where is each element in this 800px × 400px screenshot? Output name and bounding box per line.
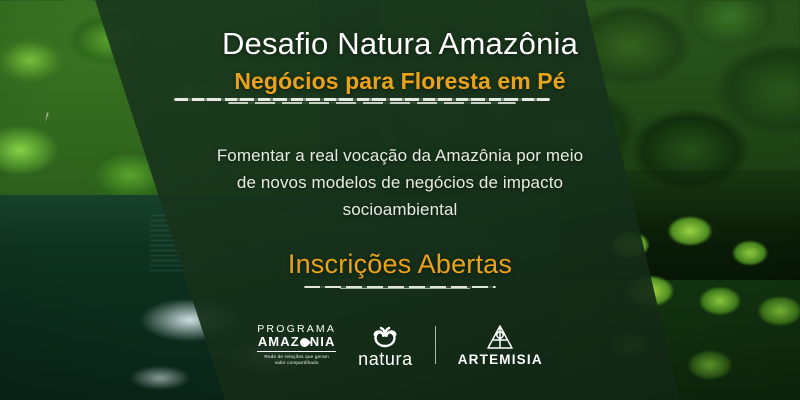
- programa-rule: [257, 351, 336, 352]
- banner-content: Desafio Natura Amazônia Negócios para Fl…: [0, 0, 800, 400]
- programa-tagline-2: valor compartilhado: [257, 360, 336, 366]
- artemisia-wordmark: ARTEMISIA: [458, 353, 543, 367]
- natura-wordmark: natura: [358, 350, 413, 368]
- logo-divider: [435, 326, 436, 364]
- brush-stroke-underline-cta: [300, 285, 506, 291]
- description-line-1: Fomentar a real vocação da Amazônia por …: [0, 142, 800, 169]
- artemisia-triangle-icon: [485, 324, 515, 350]
- logo-artemisia: ARTEMISIA: [458, 324, 543, 367]
- partner-logos: PROGRAMA AMAZ NIA Rede de relações que g…: [0, 322, 800, 368]
- promotional-banner: Desafio Natura Amazônia Negócios para Fl…: [0, 0, 800, 400]
- natura-flower-icon: [365, 322, 405, 348]
- logo-programa-amazonia: PROGRAMA AMAZ NIA Rede de relações que g…: [257, 324, 336, 367]
- amazonia-word-after: NIA: [310, 335, 336, 348]
- banner-subtitle: Negócios para Floresta em Pé: [0, 68, 800, 95]
- registrations-open-text: Inscrições Abertas: [0, 249, 800, 280]
- logo-natura: natura: [358, 322, 413, 368]
- programa-word: PROGRAMA: [257, 324, 336, 335]
- description-line-2: de novos modelos de negócios de impacto: [0, 169, 800, 196]
- brush-stroke-divider: [168, 97, 576, 106]
- banner-title: Desafio Natura Amazônia: [0, 26, 800, 62]
- banner-description: Fomentar a real vocação da Amazônia por …: [0, 142, 800, 223]
- amazonia-word: AMAZ NIA: [257, 335, 336, 348]
- description-line-3: socioambiental: [0, 196, 800, 223]
- amazonia-word-before: AMAZ: [258, 335, 300, 348]
